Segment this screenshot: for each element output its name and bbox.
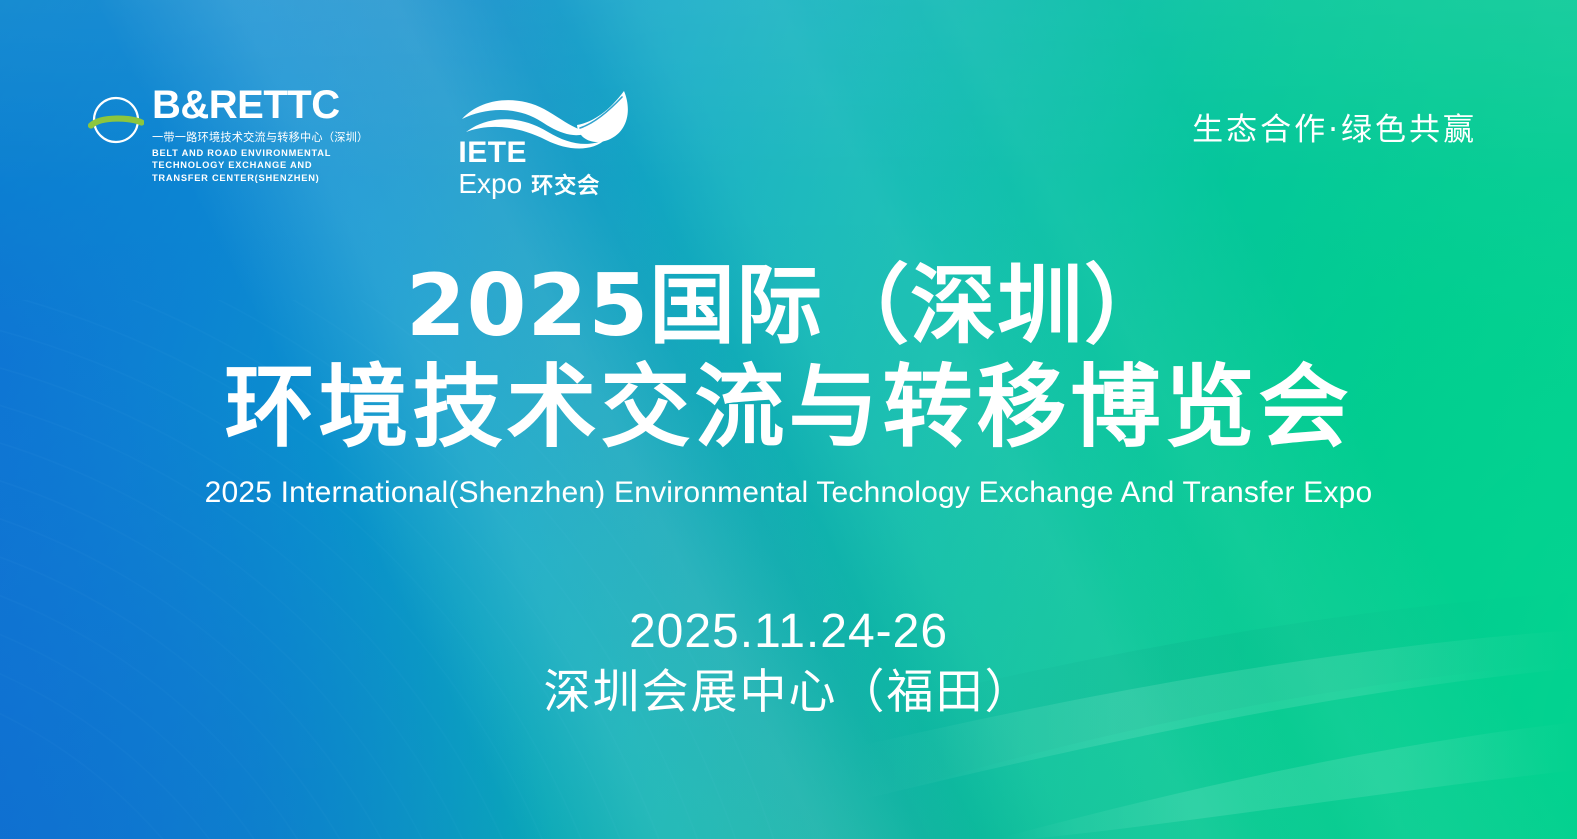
title-line-1: 2025国际（深圳） [0, 262, 1577, 351]
iete-title: IETE [458, 138, 600, 168]
brettc-wordmark: B&RETTC [152, 86, 368, 125]
banner-content: B&RETTC 一带一路环境技术交流与转移中心（深圳） BELT AND ROA… [0, 0, 1577, 839]
logo-brettc: B&RETTC 一带一路环境技术交流与转移中心（深圳） BELT AND ROA… [88, 86, 368, 184]
iete-wordmark-block: IETE Expo 环交会 [458, 138, 600, 198]
expo-banner: B&RETTC 一带一路环境技术交流与转移中心（深圳） BELT AND ROA… [0, 0, 1577, 839]
brettc-chinese-name: 一带一路环境技术交流与转移中心（深圳） [152, 129, 368, 145]
title-english-subtitle: 2025 International(Shenzhen) Environment… [0, 476, 1577, 510]
iete-chinese-short: 环交会 [531, 176, 600, 198]
logo-row: B&RETTC 一带一路环境技术交流与转移中心（深圳） BELT AND ROA… [88, 86, 632, 188]
logo-iete-expo: IETE Expo 环交会 [456, 88, 632, 188]
iete-subtitle-row: Expo 环交会 [458, 170, 600, 198]
brettc-text-block: B&RETTC 一带一路环境技术交流与转移中心（深圳） BELT AND ROA… [152, 86, 368, 184]
headline-block: 2025国际（深圳） 环境技术交流与转移博览会 2025 Internation… [0, 262, 1577, 510]
event-date: 2025.11.24-26 [0, 605, 1577, 659]
iete-expo-label: Expo [458, 170, 522, 198]
slogan-text: 生态合作·绿色共赢 [1192, 104, 1477, 149]
event-venue: 深圳会展中心（福田） [0, 665, 1577, 720]
event-info-block: 2025.11.24-26 深圳会展中心（福田） [0, 605, 1577, 720]
globe-ring-icon [88, 92, 144, 148]
title-line-2: 环境技术交流与转移博览会 [0, 361, 1577, 456]
brettc-english-name: BELT AND ROAD ENVIRONMENTAL TECHNOLOGY E… [152, 147, 358, 184]
